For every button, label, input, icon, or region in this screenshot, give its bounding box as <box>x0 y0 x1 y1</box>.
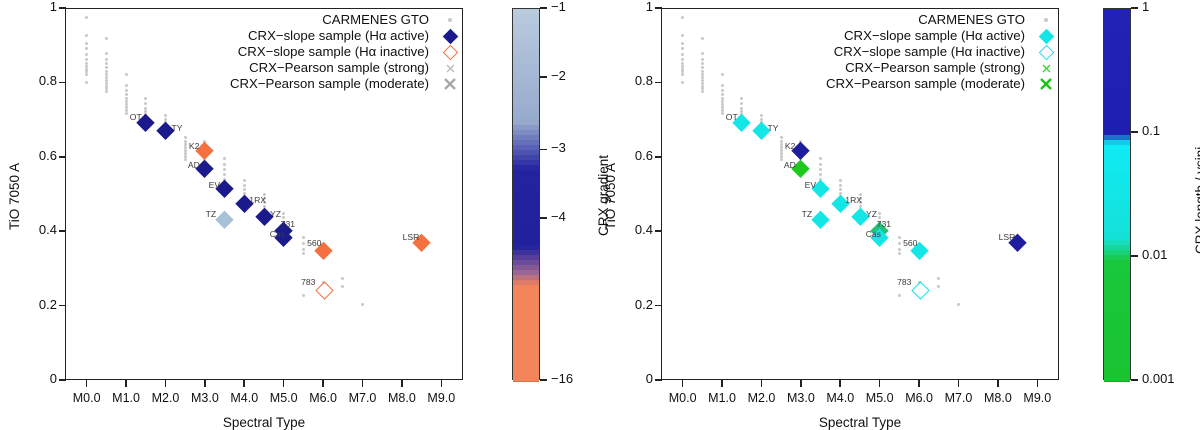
colorbar-tick-label: −1 <box>551 0 566 14</box>
x-tick-label: M9.0 <box>1009 391 1065 405</box>
star-label: K2 <box>189 141 200 151</box>
y-tick-label: 0.6 <box>613 148 653 163</box>
colorbar-stripe <box>513 376 539 382</box>
star-label: Cas <box>270 229 285 239</box>
colorbar-stripe <box>1104 376 1130 382</box>
figure-root: 00.20.40.60.81M0.0M1.0M2.0M3.0M4.0M5.0M6… <box>0 0 1200 429</box>
star-label: 1RX <box>249 195 266 205</box>
gto-point <box>898 252 901 255</box>
gto-point <box>223 163 226 166</box>
gto-point <box>721 112 724 115</box>
star-label: EV <box>805 180 816 190</box>
star-label: 783 <box>897 277 911 287</box>
legend-marker-dot <box>1033 12 1059 28</box>
colorbar-left <box>512 8 540 380</box>
star-label: TZ <box>802 209 813 219</box>
colorbar-tickmark <box>540 76 547 77</box>
legend-diamond-open-icon <box>1038 44 1054 60</box>
gto-point <box>223 157 226 160</box>
legend-marker-x-small <box>437 60 463 76</box>
star-label: 560 <box>903 238 917 248</box>
colorbar-tick-label: 0.001 <box>1142 371 1175 386</box>
legend-right: CARMENES GTOCRX−slope sample (Hα active)… <box>649 12 1059 92</box>
gto-point <box>740 97 743 100</box>
gto-point <box>184 136 187 139</box>
colorbar-tickmark <box>540 149 547 150</box>
star-label: 783 <box>301 277 315 287</box>
gto-point <box>721 97 724 100</box>
legend-marker-diamond-open <box>437 44 463 60</box>
x-tickmark <box>997 380 999 387</box>
y-tick-label: 0 <box>17 371 57 386</box>
y-tickmark <box>59 156 66 158</box>
legend-label: CRX−Pearson sample (moderate) <box>826 76 1025 92</box>
legend-x-icon <box>1041 79 1051 89</box>
star-label: LSR <box>999 232 1016 242</box>
x-tickmark <box>441 380 443 387</box>
y-tickmark <box>59 305 66 307</box>
star-label: AD <box>784 160 796 170</box>
legend-label: CRX−slope sample (Hα inactive) <box>238 44 429 60</box>
star-label: LSR <box>403 232 420 242</box>
star-label: AD <box>188 160 200 170</box>
x-tickmark <box>125 380 127 387</box>
star-label: Cas <box>866 229 881 239</box>
x-tickmark <box>918 380 920 387</box>
legend-x-icon <box>1043 65 1050 72</box>
gto-point <box>164 114 167 117</box>
star-label: YZ <box>270 209 281 219</box>
star-label: EV <box>209 180 220 190</box>
legend-marker-diamond-filled <box>437 28 463 44</box>
legend-label: CRX−slope sample (Hα active) <box>844 28 1025 44</box>
y-tick-label: 0.2 <box>17 297 57 312</box>
gto-point <box>760 114 763 117</box>
legend-label: CARMENES GTO <box>322 12 429 28</box>
star-label: YZ <box>866 209 877 219</box>
x-axis-label: Spectral Type <box>220 415 308 430</box>
gto-point <box>898 294 901 297</box>
y-tickmark <box>59 379 66 381</box>
y-tick-label: 0.2 <box>613 297 653 312</box>
x-axis-label: Spectral Type <box>816 415 904 430</box>
x-tickmark <box>86 380 88 387</box>
star-label: TY <box>767 123 778 133</box>
x-tickmark <box>283 380 285 387</box>
x-tickmark <box>958 380 960 387</box>
gto-point <box>243 188 246 191</box>
y-tick-label: 0.4 <box>613 222 653 237</box>
star-label: 560 <box>307 238 321 248</box>
y-tickmark <box>655 230 662 232</box>
legend-marker-x-large <box>1033 76 1059 92</box>
legend-marker-x-small <box>1033 60 1059 76</box>
colorbar-tick-label: −4 <box>551 209 566 224</box>
star-label: OT <box>130 112 142 122</box>
x-tickmark <box>165 380 167 387</box>
gto-point <box>819 163 822 166</box>
legend-marker-diamond-filled <box>1033 28 1059 44</box>
colorbar-tick-label: −3 <box>551 140 566 155</box>
colorbar-tickmark <box>540 7 547 8</box>
gto-point <box>302 242 305 245</box>
x-tickmark <box>682 380 684 387</box>
x-tickmark <box>761 380 763 387</box>
colorbar-tickmark <box>1131 255 1138 256</box>
legend-diamond-filled-icon <box>442 28 458 44</box>
gto-point <box>302 248 305 251</box>
y-axis-label: TiO 7050 A <box>603 163 618 230</box>
gto-point <box>898 242 901 245</box>
x-tickmark <box>243 380 245 387</box>
legend-item: CARMENES GTO <box>53 12 463 28</box>
legend-x-icon <box>447 65 454 72</box>
y-tick-label: 0.8 <box>613 73 653 88</box>
legend-x-icon <box>445 79 455 89</box>
legend-marker-x-large <box>437 76 463 92</box>
gto-point <box>302 252 305 255</box>
colorbar-tickmark <box>540 379 547 380</box>
colorbar-tickmark <box>540 217 547 218</box>
colorbar-tick-label: 1 <box>1142 0 1149 14</box>
x-tick-label: M9.0 <box>413 391 469 405</box>
colorbar-tickmark <box>1131 131 1138 132</box>
gto-point <box>302 236 305 239</box>
legend-item: CRX−Pearson sample (moderate) <box>53 76 463 92</box>
y-tickmark <box>655 379 662 381</box>
gto-point <box>898 248 901 251</box>
legend-dot-icon <box>448 18 452 22</box>
gto-point <box>243 179 246 182</box>
legend-item: CARMENES GTO <box>649 12 1059 28</box>
x-tickmark <box>322 380 324 387</box>
colorbar-tick-label: 0.01 <box>1142 247 1167 262</box>
colorbar-tick-label: 0.1 <box>1142 123 1160 138</box>
legend-item: CRX−Pearson sample (moderate) <box>649 76 1059 92</box>
star-label: TY <box>171 123 182 133</box>
gto-point <box>125 112 128 115</box>
x-tickmark <box>721 380 723 387</box>
star-label: K2 <box>785 141 796 151</box>
legend-item: CRX−Pearson sample (strong) <box>649 60 1059 76</box>
gto-point <box>144 97 147 100</box>
colorbar-gradient <box>1104 9 1130 379</box>
legend-item: CRX−Pearson sample (strong) <box>53 60 463 76</box>
gto-point <box>839 184 842 187</box>
legend-label: CRX−Pearson sample (strong) <box>845 60 1025 76</box>
gto-point <box>125 97 128 100</box>
legend-left: CARMENES GTOCRX−slope sample (Hα active)… <box>53 12 463 92</box>
x-tickmark <box>879 380 881 387</box>
y-tick-label: 0.6 <box>17 148 57 163</box>
y-tickmark <box>59 230 66 232</box>
legend-item: CRX−slope sample (Hα active) <box>53 28 463 44</box>
star-label: 1RX <box>845 195 862 205</box>
legend-item: CRX−slope sample (Hα inactive) <box>53 44 463 60</box>
y-tickmark <box>655 7 662 9</box>
y-tick-label: 0.4 <box>17 222 57 237</box>
gto-point <box>898 236 901 239</box>
legend-marker-diamond-open <box>1033 44 1059 60</box>
x-tickmark <box>800 380 802 387</box>
x-tickmark <box>204 380 206 387</box>
legend-diamond-open-icon <box>442 44 458 60</box>
legend-dot-icon <box>1044 18 1048 22</box>
legend-label: CRX−Pearson sample (moderate) <box>230 76 429 92</box>
x-tickmark <box>362 380 364 387</box>
y-axis-label: TiO 7050 A <box>7 163 22 230</box>
x-tickmark <box>1037 380 1039 387</box>
colorbar-right <box>1103 8 1131 380</box>
gto-point <box>302 294 305 297</box>
legend-label: CRX−Pearson sample (strong) <box>249 60 429 76</box>
colorbar-tickmark <box>1131 7 1138 8</box>
x-tickmark <box>401 380 403 387</box>
gto-point <box>819 157 822 160</box>
y-tick-label: 1 <box>17 0 57 14</box>
colorbar-tick-label: −16 <box>551 371 573 386</box>
star-label: TZ <box>206 209 217 219</box>
legend-item: CRX−slope sample (Hα inactive) <box>649 44 1059 60</box>
legend-diamond-filled-icon <box>1038 28 1054 44</box>
colorbar-tick-label: −2 <box>551 68 566 83</box>
gto-point <box>721 93 724 96</box>
y-tick-label: 0.8 <box>17 73 57 88</box>
y-tickmark <box>655 156 662 158</box>
y-tickmark <box>59 7 66 9</box>
y-tickmark <box>655 305 662 307</box>
y-tick-label: 0 <box>613 371 653 386</box>
gto-point <box>125 93 128 96</box>
legend-label: CRX−slope sample (Hα inactive) <box>834 44 1025 60</box>
star-label: OT <box>726 112 738 122</box>
gto-point <box>839 188 842 191</box>
colorbar-gradient <box>513 9 539 379</box>
gto-point <box>780 136 783 139</box>
legend-label: CRX−slope sample (Hα active) <box>248 28 429 44</box>
gto-point <box>839 179 842 182</box>
colorbar-tickmark <box>1131 379 1138 380</box>
y-tick-label: 1 <box>613 0 653 14</box>
gto-point <box>243 184 246 187</box>
legend-item: CRX−slope sample (Hα active) <box>649 28 1059 44</box>
legend-label: CARMENES GTO <box>918 12 1025 28</box>
legend-marker-dot <box>437 12 463 28</box>
colorbar-title: CRX length / vsini <box>1193 147 1200 254</box>
x-tickmark <box>839 380 841 387</box>
